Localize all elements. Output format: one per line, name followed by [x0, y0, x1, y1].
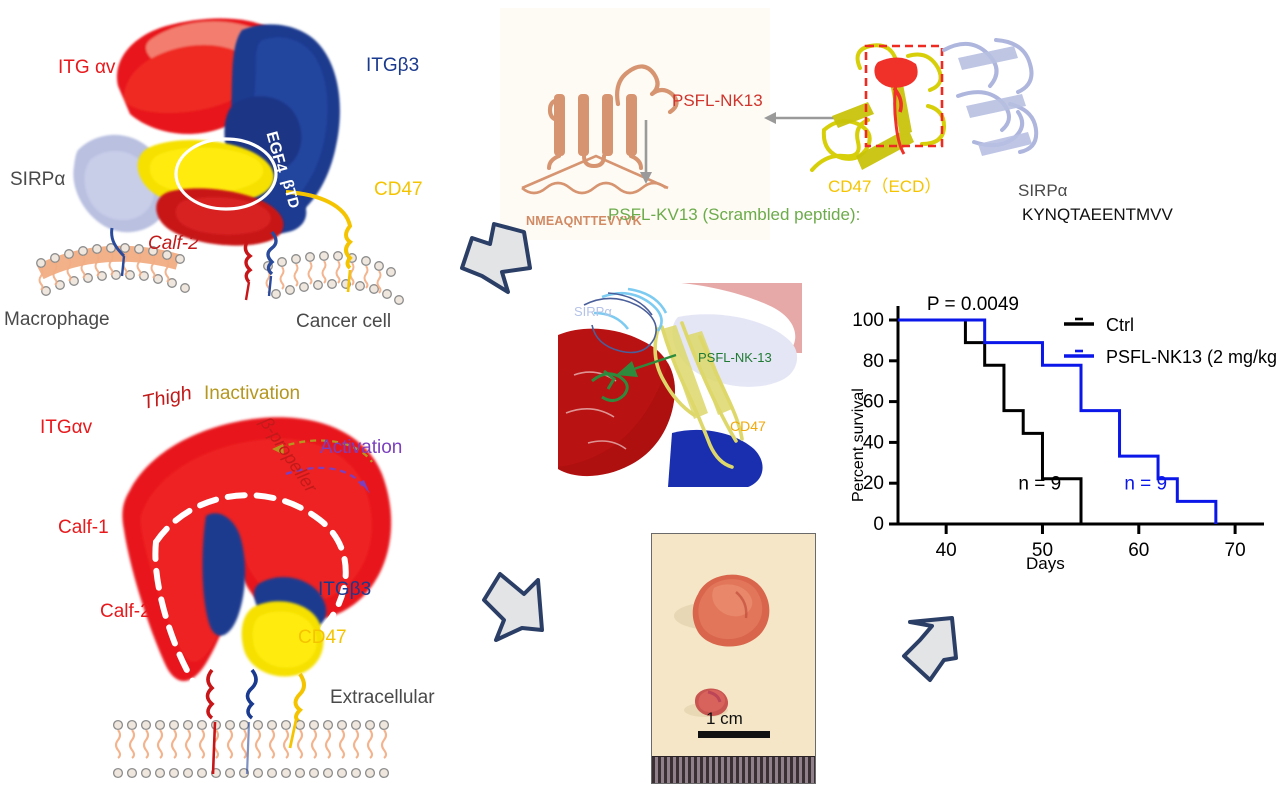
- burst-arrow-down: [466, 536, 576, 651]
- panel-bottom-left: ITGαv Thigh Inactivation Activation β-pr…: [0, 370, 470, 797]
- label-sirpa-closeup: SIRPα: [574, 305, 612, 318]
- ruler-strip: [652, 756, 815, 783]
- panel-top-left: ITG αv ITGβ3 SIRPα CD47 Calf-2 EGF4 βTD …: [0, 0, 470, 360]
- chart-ylabel: Percent survival: [850, 388, 868, 502]
- chart-annotation: n = 9: [1018, 473, 1061, 494]
- label-cd47: CD47: [374, 180, 423, 199]
- chart-ytick: 0: [873, 514, 884, 535]
- label-cd47-bottom: CD47: [298, 628, 347, 647]
- label-cd47-closeup: CD47: [730, 419, 766, 433]
- label-extracellular: Extracellular: [330, 688, 435, 707]
- chart-xtick: 70: [1225, 540, 1246, 561]
- label-calf-2-bottom: Calf-2: [100, 602, 151, 621]
- survival-chart: 02040608010040506070P = 0.0049n = 9n = 9…: [846, 296, 1276, 586]
- label-itg-b3-bottom: ITGβ3: [318, 580, 371, 599]
- chart-annotation: P = 0.0049: [927, 296, 1019, 315]
- chart-ytick: 100: [852, 310, 884, 331]
- chart-annotation: n = 9: [1124, 473, 1167, 494]
- chart-xtick: 40: [936, 540, 957, 561]
- chart-ytick: 80: [863, 351, 884, 372]
- burst-arrow-left: [448, 196, 548, 301]
- chart-legend-label: PSFL-NK13 (2 mg/kg): [1106, 347, 1276, 367]
- label-scrambled-peptide: PSFL-KV13 (Scrambled peptide):: [608, 206, 860, 223]
- label-itg-av: ITG αv: [58, 58, 115, 77]
- survival-chart-svg: 02040608010040506070P = 0.0049n = 9n = 9…: [846, 296, 1276, 586]
- figure-canvas: ITG αv ITGβ3 SIRPα CD47 Calf-2 EGF4 βTD …: [0, 0, 1276, 797]
- burst-arrow-up: [886, 596, 996, 711]
- label-inactivation: Inactivation: [204, 384, 300, 403]
- scale-bar: [698, 731, 770, 738]
- tumor-photo-graphic: [652, 534, 815, 783]
- label-psfl-nk13: PSFL-NK13: [672, 92, 763, 109]
- label-scrambled-sequence: KYNQTAEENTMVV: [1022, 206, 1173, 223]
- label-sirpa: SIRPα: [10, 170, 65, 189]
- label-cancer-cell: Cancer cell: [296, 312, 391, 331]
- label-cd47-ecd: CD47（ECD）: [828, 178, 941, 195]
- scale-bar-label: 1 cm: [706, 709, 743, 729]
- panel-docking-closeup: SIRPα PSFL-NK-13 CD47: [558, 283, 802, 496]
- label-calf-1: Calf-1: [58, 518, 109, 537]
- chart-legend-label: Ctrl: [1106, 315, 1134, 335]
- label-sirpa-ribbon: SIRPα: [1018, 182, 1068, 199]
- chart-xlabel: Days: [1026, 554, 1065, 574]
- plasma-membrane: [114, 720, 389, 777]
- label-activation: Activation: [320, 438, 402, 457]
- label-itg-b3: ITGβ3: [366, 56, 419, 75]
- label-macrophage: Macrophage: [4, 310, 110, 329]
- label-itg-av-bottom: ITGαv: [40, 418, 92, 437]
- label-calf-2: Calf-2: [148, 234, 199, 253]
- cancer-cell-membrane: [264, 252, 404, 305]
- panel-tumor-photo: 1 cm: [651, 533, 816, 784]
- label-psfl-nk-13-closeup: PSFL-NK-13: [698, 351, 772, 364]
- chart-xtick: 60: [1128, 540, 1149, 561]
